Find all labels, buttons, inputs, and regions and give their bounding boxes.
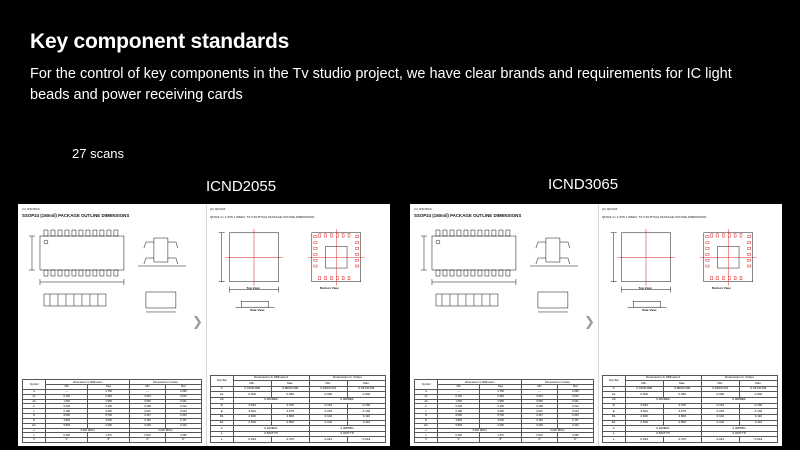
cell-value: 0.324 bbox=[233, 437, 271, 443]
next-page-arrow-icon-2[interactable]: ❯ bbox=[584, 315, 595, 330]
bottom-view-label: Bottom View bbox=[320, 286, 339, 290]
ssop24-table-body: A---1.750---0.069A10.1000.2500.0040.010A… bbox=[23, 389, 202, 442]
datasheet-image-right[interactable]: (1) SSOP24 SSOP24 (150mil) PACKAGE OUTLI… bbox=[410, 204, 782, 446]
page-code-qfn: (2) QFN24 bbox=[210, 207, 226, 211]
cell-symbol: L bbox=[210, 437, 233, 443]
cell-symbol: L bbox=[602, 437, 625, 443]
next-page-arrow-icon[interactable]: ❯ bbox=[192, 315, 203, 330]
label-icnd3065: ICND3065 bbox=[548, 176, 618, 193]
cell-value: 0° bbox=[438, 438, 480, 443]
ssop-outline-title-2: SSOP24 (150mil) PACKAGE OUTLINE DIMENSIO… bbox=[414, 213, 521, 218]
qfn24-dimension-table-2: Symbol Dimensions In Millimeters Dimensi… bbox=[602, 375, 778, 444]
bottom-view-label-2: Bottom View bbox=[712, 286, 731, 290]
cell-value: 0.324 bbox=[625, 437, 663, 443]
cell-value: 8° bbox=[557, 438, 593, 443]
th-symbol-2: Symbol bbox=[415, 380, 438, 390]
cell-value: 0° bbox=[522, 438, 558, 443]
page-code-qfn-2: (2) QFN24 bbox=[602, 207, 618, 211]
ssop24-drawing-2 bbox=[410, 222, 598, 327]
table-row: L0.3240.4760.0130.019 bbox=[602, 437, 777, 443]
cell-value: 0° bbox=[46, 438, 88, 443]
page-title: Key component standards bbox=[30, 30, 450, 55]
ssop24-sheet-right: (1) SSOP24 SSOP24 (150mil) PACKAGE OUTLI… bbox=[410, 204, 599, 446]
cell-value: 0.019 bbox=[347, 437, 385, 443]
ssop24-dimension-table: Symbol Dimensions In Millimeters Dimensi… bbox=[22, 379, 202, 443]
page-subtitle: For the control of key components in the… bbox=[30, 64, 740, 106]
qfn24-table-body-2: A0.700/0.8000.800/0.9000.028/0.0310.031/… bbox=[602, 386, 777, 442]
datasheet-image-left[interactable]: (1) SSOP24 SSOP24 (150mil) PACKAGE OUTLI… bbox=[18, 204, 390, 446]
table-row: θ0°8°0°8° bbox=[415, 438, 594, 443]
qfn24-drawing bbox=[206, 220, 390, 320]
qfn-note-2: QFN24 4 x 4 (PIN 1 INDEX, TO 0.50 PITCH)… bbox=[602, 215, 706, 219]
top-view-label-2: Top View bbox=[638, 286, 651, 290]
ssop24-dimension-table-2: Symbol Dimensions In Millimeters Dimensi… bbox=[414, 379, 594, 443]
ssop-outline-title: SSOP24 (150mil) PACKAGE OUTLINE DIMENSIO… bbox=[22, 213, 129, 218]
cell-value: 0.013 bbox=[701, 437, 739, 443]
label-icnd2055: ICND2055 bbox=[206, 178, 276, 195]
cell-value: 0.476 bbox=[663, 437, 701, 443]
page-code-left-2: (1) SSOP24 bbox=[414, 207, 432, 211]
cell-value: 8° bbox=[88, 438, 130, 443]
table-row: L0.3240.4760.0130.019 bbox=[210, 437, 385, 443]
qfn24-sheet-left: (2) QFN24 QFN24 4 x 4 (PIN 1 INDEX, TO 0… bbox=[206, 204, 390, 446]
scans-label: 27 scans bbox=[72, 146, 124, 161]
ssop24-drawing bbox=[18, 222, 206, 327]
side-view-label: Side View bbox=[250, 308, 264, 312]
cell-value: 0.013 bbox=[309, 437, 347, 443]
cell-value: 8° bbox=[165, 438, 201, 443]
th-symbol-qfn: Symbol bbox=[210, 375, 233, 386]
cell-symbol: θ bbox=[415, 438, 438, 443]
slide-root: Key component standards For the control … bbox=[0, 0, 800, 450]
qfn24-dimension-table: Symbol Dimensions In Millimeters Dimensi… bbox=[210, 375, 386, 444]
cell-value: 0° bbox=[130, 438, 166, 443]
qfn-note: QFN24 4 x 4 (PIN 1 INDEX, TO 0.50 PITCH)… bbox=[210, 215, 314, 219]
cell-value: 0.476 bbox=[271, 437, 309, 443]
top-view-label: Top View bbox=[246, 286, 259, 290]
qfn24-table-body: A0.700/0.8000.800/0.9000.028/0.0310.031/… bbox=[210, 386, 385, 442]
cell-value: 0.019 bbox=[739, 437, 777, 443]
side-view-label-2: Side View bbox=[642, 308, 656, 312]
ssop24-table-body-2: A---1.750---0.069A10.1000.2500.0040.010A… bbox=[415, 389, 594, 442]
qfn24-sheet-right: (2) QFN24 QFN24 4 x 4 (PIN 1 INDEX, TO 0… bbox=[598, 204, 782, 446]
page-code-left: (1) SSOP24 bbox=[22, 207, 40, 211]
cell-value: 8° bbox=[480, 438, 522, 443]
cell-symbol: θ bbox=[23, 438, 46, 443]
table-row: θ0°8°0°8° bbox=[23, 438, 202, 443]
ssop24-sheet-left: (1) SSOP24 SSOP24 (150mil) PACKAGE OUTLI… bbox=[18, 204, 207, 446]
qfn24-drawing-2 bbox=[598, 220, 782, 320]
th-symbol: Symbol bbox=[23, 380, 46, 390]
th-symbol-qfn-2: Symbol bbox=[602, 375, 625, 386]
